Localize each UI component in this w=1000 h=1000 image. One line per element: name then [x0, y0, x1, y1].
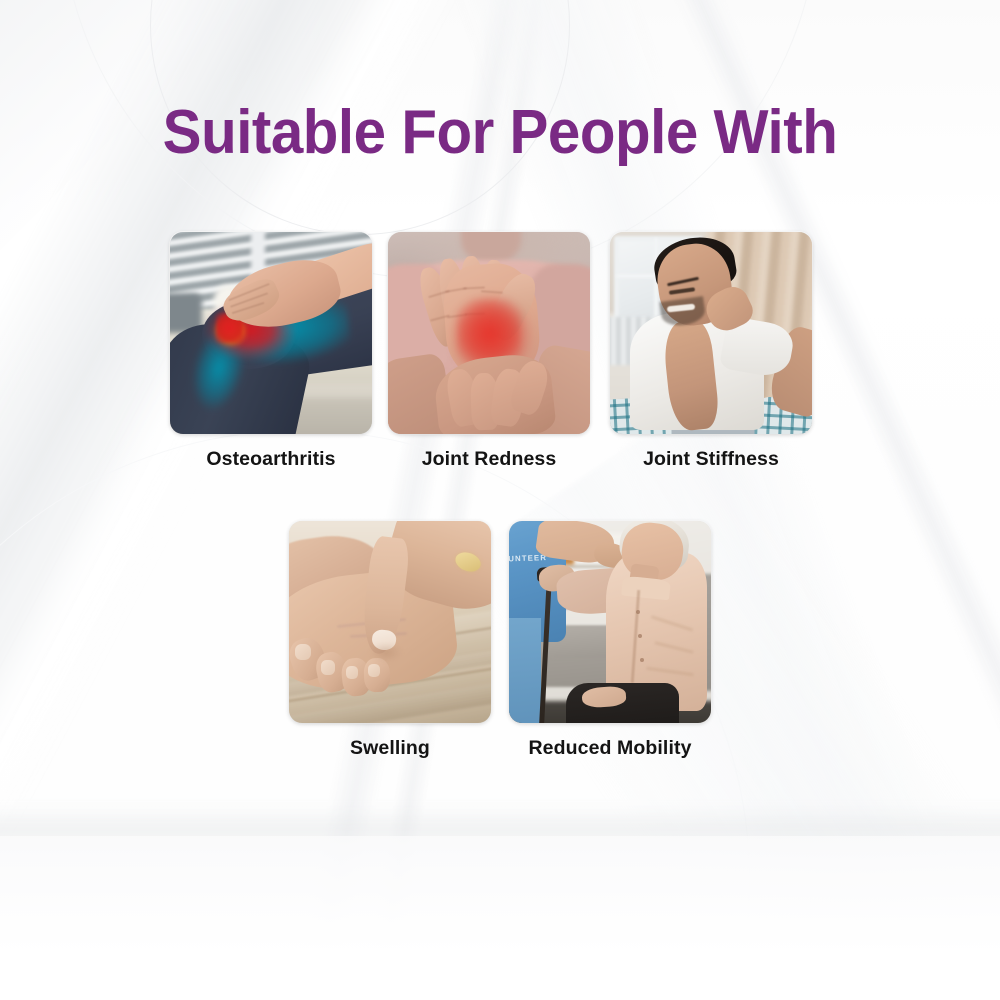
condition-card-joint-stiffness[interactable]: Joint Stiffness	[610, 232, 812, 471]
condition-card-reduced-mobility[interactable]: VOLUNTEER	[509, 521, 711, 760]
condition-thumbnail-joint-redness[interactable]	[388, 232, 590, 434]
condition-label-joint-redness: Joint Redness	[388, 448, 590, 471]
condition-thumbnail-osteoarthritis[interactable]	[170, 232, 372, 434]
condition-label-osteoarthritis: Osteoarthritis	[170, 448, 372, 471]
condition-label-reduced-mobility: Reduced Mobility	[509, 737, 711, 760]
neck-stiffness-illustration	[610, 232, 812, 434]
condition-card-swelling[interactable]: Swelling	[289, 521, 491, 760]
page-content: Suitable For People With	[0, 0, 1000, 1000]
inflamed-hand-illustration	[388, 232, 590, 434]
condition-label-joint-stiffness: Joint Stiffness	[610, 448, 812, 471]
condition-card-joint-redness[interactable]: Joint Redness	[388, 232, 590, 471]
condition-card-grid: Osteoarthritis	[0, 0, 1000, 1000]
knee-pain-illustration	[170, 232, 372, 434]
condition-thumbnail-reduced-mobility[interactable]: VOLUNTEER	[509, 521, 711, 723]
condition-thumbnail-swelling[interactable]	[289, 521, 491, 723]
swollen-foot-illustration	[289, 521, 491, 723]
condition-card-osteoarthritis[interactable]: Osteoarthritis	[170, 232, 372, 471]
condition-thumbnail-joint-stiffness[interactable]	[610, 232, 812, 434]
elderly-assistance-illustration: VOLUNTEER	[509, 521, 711, 723]
condition-label-swelling: Swelling	[289, 737, 491, 760]
